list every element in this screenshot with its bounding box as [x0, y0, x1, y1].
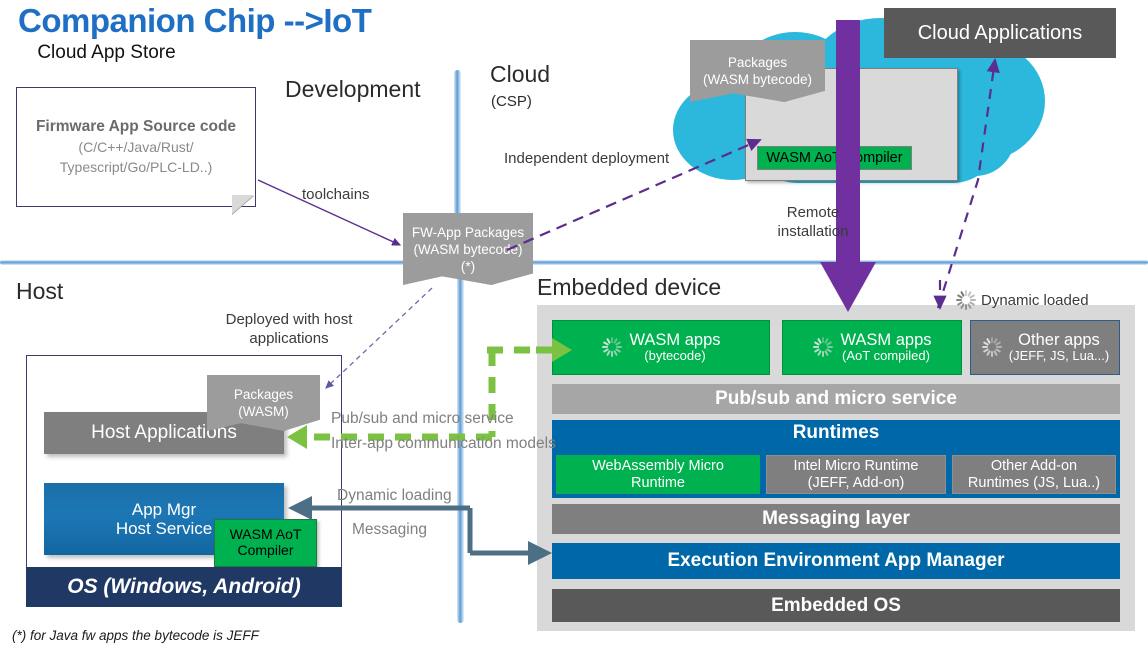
horizontal-divider — [0, 260, 1148, 265]
section-heading-embedded-device: Embedded device — [537, 274, 721, 301]
label-deployed-line1: Deployed with host — [226, 311, 353, 328]
embedded-app-wasm-aot: WASM apps (AoT compiled) — [782, 320, 962, 375]
section-heading-cloud: Cloud — [490, 61, 550, 88]
callout-fw-packages-line2: (WASM bytecode) — [413, 241, 522, 258]
dynamic-loaded-legend: Dynamic loaded — [955, 290, 1089, 310]
label-toolchains: toolchains — [302, 186, 370, 203]
callout-host-packages-line2: (WASM) — [238, 403, 289, 420]
section-heading-development: Development — [285, 76, 421, 103]
spinner-icon — [601, 337, 621, 357]
spinner-icon — [812, 337, 832, 357]
embedded-app-0-sub: (bytecode) — [644, 349, 705, 364]
host-wasm-aot-compiler-block: WASM AoT Compiler — [214, 519, 317, 567]
cloud-applications-block: Cloud Applications — [884, 8, 1116, 58]
pubsub-micro-service-bar: Pub/sub and micro service — [552, 384, 1120, 414]
embedded-app-1-title: WASM apps — [840, 331, 931, 349]
label-deployed-line2: applications — [249, 330, 328, 347]
embedded-app-other: Other apps (JEFF, JS, Lua...) — [970, 320, 1120, 375]
label-pubsub-micro-service: Pub/sub and micro service — [331, 410, 514, 428]
runtime-0-line2: Runtime — [592, 475, 724, 492]
callout-cloud-packages-line2: (WASM bytecode) — [703, 71, 812, 88]
embedded-app-wasm-bytecode: WASM apps (bytecode) — [552, 320, 770, 375]
label-messaging: Messaging — [352, 521, 427, 539]
callout-fw-packages-line1: FW-App Packages — [412, 224, 524, 241]
firmware-box-line3: Typescript/Go/PLC-LD..) — [60, 157, 213, 177]
label-remote-installation-line1: Remote — [787, 204, 840, 221]
footnote: (*) for Java fw apps the bytecode is JEF… — [12, 628, 259, 643]
embedded-os-bar: Embedded OS — [552, 589, 1120, 622]
callout-host-packages-line1: Packages — [234, 386, 293, 403]
exec-env-app-manager-bar: Execution Environment App Manager — [552, 543, 1120, 579]
spinner-icon — [955, 290, 975, 310]
os-bar-block: OS (Windows, Android) — [26, 567, 342, 607]
firmware-box-line2: (C/C++/Java/Rust/ — [78, 137, 193, 157]
firmware-box-tail — [232, 195, 254, 214]
embedded-app-2-sub: (JEFF, JS, Lua...) — [1009, 349, 1109, 364]
runtimes-title: Runtimes — [552, 422, 1120, 444]
host-aot-line2: Compiler — [237, 543, 293, 559]
callout-cloud-packages: Packages (WASM bytecode) — [690, 40, 825, 102]
cloud-app-store-label: Cloud App Store — [0, 42, 213, 64]
host-aot-line1: WASM AoT — [230, 527, 302, 543]
runtime-2-line1: Other Add-on — [968, 458, 1100, 475]
embedded-app-2-title: Other apps — [1018, 331, 1100, 349]
label-inter-app-communication: Inter-app communication models — [331, 435, 556, 453]
embedded-app-1-sub: (AoT compiled) — [842, 349, 930, 364]
page-title: Companion Chip -->IoT — [18, 2, 371, 40]
spinner-icon — [981, 337, 1001, 357]
runtime-0-line1: WebAssembly Micro — [592, 458, 724, 475]
firmware-box-line1: Firmware App Source code — [36, 117, 236, 137]
callout-cloud-packages-line1: Packages — [728, 54, 787, 71]
callout-host-packages: Packages (WASM) — [207, 375, 320, 431]
app-mgr-line2: Host Service — [116, 519, 212, 538]
messaging-layer-bar: Messaging layer — [552, 504, 1120, 534]
app-mgr-line1: App Mgr — [132, 500, 196, 519]
label-dynamic-loaded: Dynamic loaded — [981, 292, 1089, 309]
runtime-webassembly-micro: WebAssembly Micro Runtime — [556, 455, 760, 494]
firmware-source-box: Firmware App Source code (C/C++/Java/Rus… — [16, 87, 256, 207]
label-dynamic-loading: Dynamic loading — [337, 487, 452, 505]
embedded-app-0-title: WASM apps — [629, 331, 720, 349]
runtime-1-line1: Intel Micro Runtime — [794, 458, 919, 475]
section-subheading-cloud: (CSP) — [491, 93, 532, 110]
cloud-wasm-aot-compiler-block: WASM AoT Compiler — [757, 146, 912, 170]
callout-fw-app-packages: FW-App Packages (WASM bytecode) (*) — [403, 213, 533, 285]
section-heading-host: Host — [16, 278, 63, 305]
callout-fw-packages-line3: (*) — [461, 258, 475, 275]
runtime-intel-micro: Intel Micro Runtime (JEFF, Add-on) — [766, 455, 946, 494]
runtime-1-line2: (JEFF, Add-on) — [794, 475, 919, 492]
label-deployed-with-host-applications: Deployed with host applications — [196, 310, 382, 348]
label-remote-installation-line2: installation — [778, 223, 849, 240]
runtime-2-line2: Runtimes (JS, Lua..) — [968, 475, 1100, 492]
label-independent-deployment: Independent deployment — [504, 150, 669, 167]
label-remote-installation: Remote installation — [758, 203, 868, 241]
runtime-other-addon: Other Add-on Runtimes (JS, Lua..) — [952, 455, 1116, 494]
